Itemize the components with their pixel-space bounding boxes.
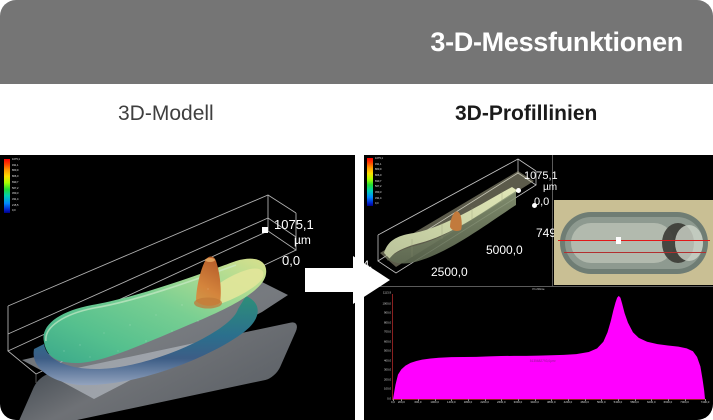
chart-x-tickmark — [601, 399, 602, 401]
chart-x-tickmark — [401, 399, 402, 401]
chart-x-tickmark — [535, 399, 536, 401]
chart-annotation: 5135682793,0µm² — [530, 359, 556, 363]
chart-x-tick: 1000,0 — [430, 401, 439, 404]
subtitle-row: 3D-Modell 3D-Profillinien — [0, 84, 713, 152]
chart-x-tickmark — [451, 399, 452, 401]
chart-x-tickmark — [585, 399, 586, 401]
chart-x-tick: 200,0 — [398, 401, 405, 404]
chart-x-tick: 5800,0 — [630, 401, 639, 404]
chart-y-tick: 200,0 — [384, 379, 391, 382]
mini-label-z-max: 1075,1 — [524, 170, 558, 182]
subtitle-3d-modell: 3D-Modell — [118, 102, 214, 126]
z-max-marker — [262, 227, 268, 233]
chart-x-tick: 6600,0 — [664, 401, 673, 404]
chart-x-tickmark — [668, 399, 669, 401]
chart-x-tickmark — [418, 399, 419, 401]
chart-x-tick: 5400,0 — [614, 401, 623, 404]
chart-x-tickmark — [468, 399, 469, 401]
3d-profile-lines-viewport[interactable]: 1075,1931,1860,9806,0690,7567,2450,3331,… — [364, 155, 713, 420]
chart-x-tick: 4600,0 — [580, 401, 589, 404]
chart-x-tickmark — [518, 399, 519, 401]
mini-label-origin-right: 0,0 — [534, 196, 549, 208]
mini-label-x-high: 5000,0 — [486, 243, 523, 257]
chart-x-tick: 4200,0 — [564, 401, 573, 404]
label-z-max: 1075,1 — [274, 217, 314, 232]
profile-chart[interactable]: Profillinie 5135682793,0µm² 1113,91000,0… — [366, 288, 711, 418]
chart-x-tickmark — [551, 399, 552, 401]
right-arrow — [305, 256, 390, 304]
microscope-image[interactable] — [554, 200, 713, 285]
chart-x-tick: 6200,0 — [647, 401, 656, 404]
profile-area-series — [393, 294, 705, 399]
chart-x-tick: 2600,0 — [497, 401, 506, 404]
header-bar: 3-D-Messfunktionen — [0, 0, 713, 84]
label-z-unit: µm — [294, 233, 311, 247]
3d-scene-left: 1075,1 µm 0,0 7490, 5000,0 2500,0 0,0µm … — [0, 155, 355, 420]
profile-line-1[interactable] — [558, 240, 710, 241]
chart-y-tick: 900,0 — [384, 312, 391, 315]
chart-y-tick: 500,0 — [384, 350, 391, 353]
label-origin-right: 0,0 — [282, 253, 300, 268]
chart-y-tick: 400,0 — [384, 359, 391, 362]
chart-x-tickmark — [501, 399, 502, 401]
photo-light-bulb — [675, 225, 703, 261]
chart-y-tick: 700,0 — [384, 331, 391, 334]
profile-line-2[interactable] — [564, 252, 706, 253]
chart-plot-area: 5135682793,0µm² 1113,91000,0900,0800,070… — [392, 294, 705, 400]
chart-x-tick: 1400,0 — [447, 401, 456, 404]
chart-x-tickmark — [568, 399, 569, 401]
page-title: 3-D-Messfunktionen — [430, 27, 683, 58]
chart-y-tick: 100,0 — [384, 388, 391, 391]
subtitle-3d-profillinien: 3D-Profillinien — [455, 102, 597, 126]
chart-x-tick: 3800,0 — [547, 401, 556, 404]
chart-y-tick: 300,0 — [384, 369, 391, 372]
mini-z-max-marker — [516, 188, 521, 193]
chart-x-tick: 3000,0 — [514, 401, 523, 404]
3d-model-viewport[interactable]: 1075,1931,1860,9806,0690,7567,2450,3331,… — [0, 155, 355, 420]
chart-y-tick: 600,0 — [384, 340, 391, 343]
chart-x-tick: 600,0 — [414, 401, 421, 404]
3d-surface-mesh — [0, 155, 355, 420]
chart-x-tick: 5000,0 — [597, 401, 606, 404]
chart-x-tick: 0,0 — [391, 401, 395, 404]
chart-x-tickmark — [485, 399, 486, 401]
chart-x-tick: 7490,0 — [701, 401, 710, 404]
chart-x-tick: 7000,0 — [680, 401, 689, 404]
mini-label-z-unit: µm — [543, 182, 557, 193]
chart-x-tickmark — [618, 399, 619, 401]
chart-title: Profillinie — [532, 287, 544, 291]
chart-x-tickmark — [705, 399, 706, 401]
chart-x-tick: 1800,0 — [464, 401, 473, 404]
photo-core-shape — [571, 223, 674, 263]
chart-x-tick: 3400,0 — [530, 401, 539, 404]
photo-point-marker — [616, 237, 621, 244]
chart-y-tick: 800,0 — [384, 321, 391, 324]
mini-label-x-mid: 2500,0 — [431, 265, 468, 279]
chart-x-tick: 2200,0 — [480, 401, 489, 404]
chart-x-tickmark — [635, 399, 636, 401]
chart-x-tickmark — [651, 399, 652, 401]
chart-x-tickmark — [393, 399, 394, 401]
slide-root: 3-D-Messfunktionen 3D-Modell 3D-Profilli… — [0, 0, 713, 420]
chart-x-tickmark — [435, 399, 436, 401]
chart-x-tickmark — [685, 399, 686, 401]
